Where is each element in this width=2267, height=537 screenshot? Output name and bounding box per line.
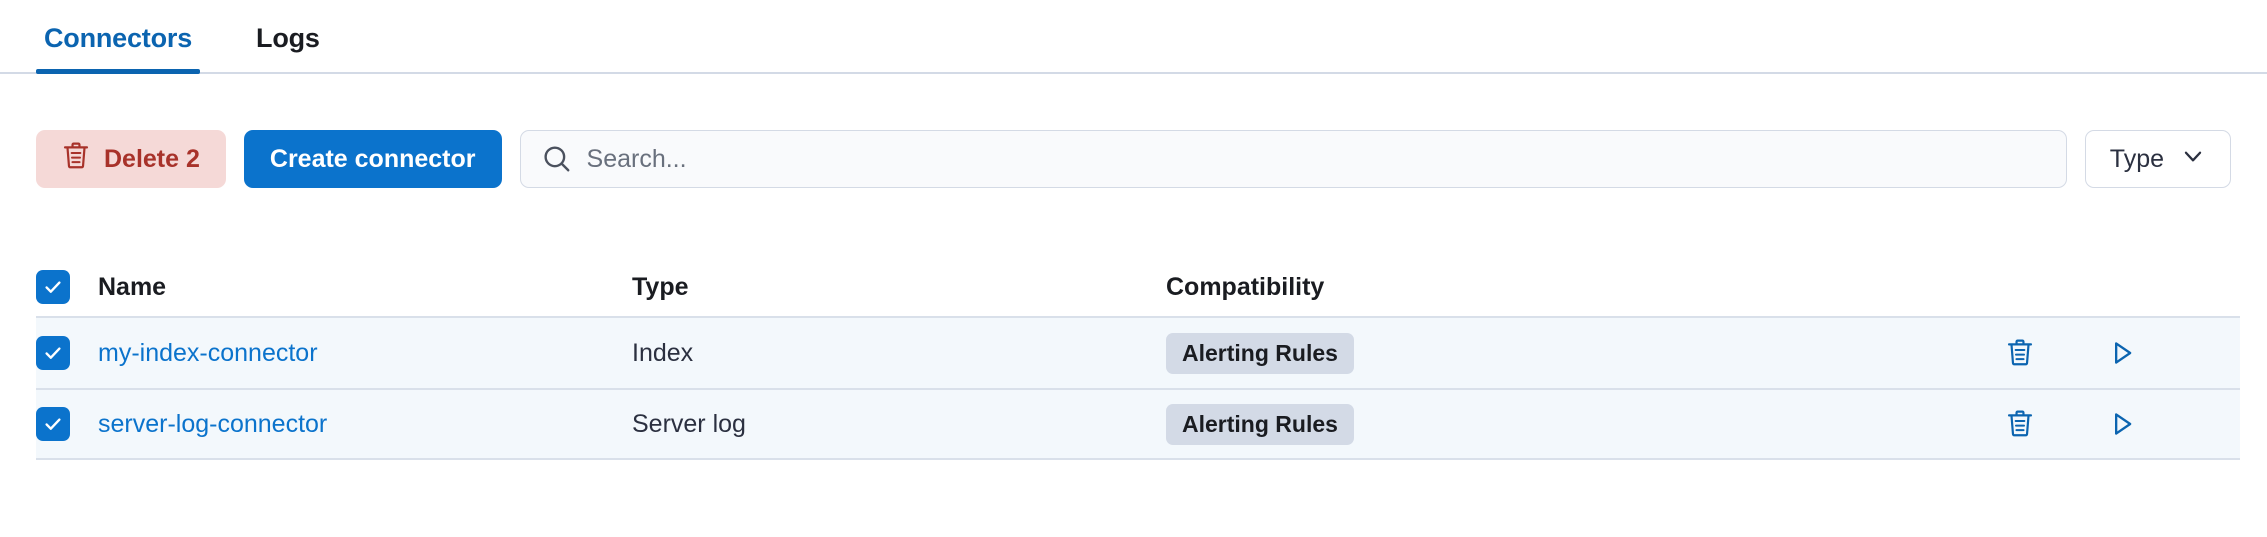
search-input[interactable] (520, 130, 2067, 188)
connectors-page: Connectors Logs Delete 2 Create connecto… (0, 0, 2267, 537)
table-row[interactable]: my-index-connector Index Alerting Rules (36, 316, 2240, 388)
connector-type-cell: Index (632, 339, 1166, 368)
search-field (520, 130, 2067, 188)
trash-icon (62, 141, 90, 178)
tab-connectors-label: Connectors (44, 23, 192, 53)
connector-name-link[interactable]: server-log-connector (98, 410, 327, 438)
connector-name-link[interactable]: my-index-connector (98, 339, 318, 367)
type-filter-label: Type (2110, 145, 2164, 174)
run-play-icon (2108, 339, 2136, 367)
select-all-cell (36, 270, 98, 304)
create-connector-label: Create connector (270, 145, 476, 174)
connector-type-cell: Server log (632, 410, 1166, 439)
connector-compatibility-cell: Alerting Rules (1166, 404, 1980, 445)
chevron-down-icon (2180, 143, 2206, 176)
row-checkbox[interactable] (36, 336, 70, 370)
compatibility-badge: Alerting Rules (1166, 333, 1354, 374)
type-filter-dropdown[interactable]: Type (2085, 130, 2231, 188)
compatibility-badge: Alerting Rules (1166, 404, 1354, 445)
tab-bar: Connectors Logs (0, 0, 2267, 74)
row-select-cell (36, 336, 98, 370)
trash-icon (2006, 338, 2034, 368)
delete-row-button[interactable] (2006, 409, 2034, 439)
trash-icon (2006, 409, 2034, 439)
tab-logs-label: Logs (256, 23, 320, 53)
connector-compatibility-cell: Alerting Rules (1166, 333, 1980, 374)
row-checkbox[interactable] (36, 407, 70, 441)
table-header-row: Name Type Compatibility (36, 258, 2240, 316)
toolbar: Delete 2 Create connector Type (36, 130, 2231, 188)
column-header-compatibility[interactable]: Compatibility (1166, 273, 1980, 302)
row-actions (1980, 409, 2240, 439)
run-play-icon (2108, 410, 2136, 438)
column-header-name[interactable]: Name (98, 273, 632, 302)
select-all-checkbox[interactable] (36, 270, 70, 304)
connectors-table: Name Type Compatibility my-index-connect… (36, 258, 2240, 460)
tab-logs[interactable]: Logs (248, 23, 328, 72)
tab-connectors[interactable]: Connectors (36, 23, 200, 72)
row-select-cell (36, 407, 98, 441)
run-connector-button[interactable] (2108, 339, 2136, 367)
delete-row-button[interactable] (2006, 338, 2034, 368)
run-connector-button[interactable] (2108, 410, 2136, 438)
row-actions (1980, 338, 2240, 368)
delete-button-label: Delete 2 (104, 145, 200, 174)
connector-name-cell: my-index-connector (98, 339, 632, 368)
delete-button[interactable]: Delete 2 (36, 130, 226, 188)
create-connector-button[interactable]: Create connector (244, 130, 502, 188)
column-header-type[interactable]: Type (632, 273, 1166, 302)
table-row[interactable]: server-log-connector Server log Alerting… (36, 388, 2240, 460)
connector-name-cell: server-log-connector (98, 410, 632, 439)
